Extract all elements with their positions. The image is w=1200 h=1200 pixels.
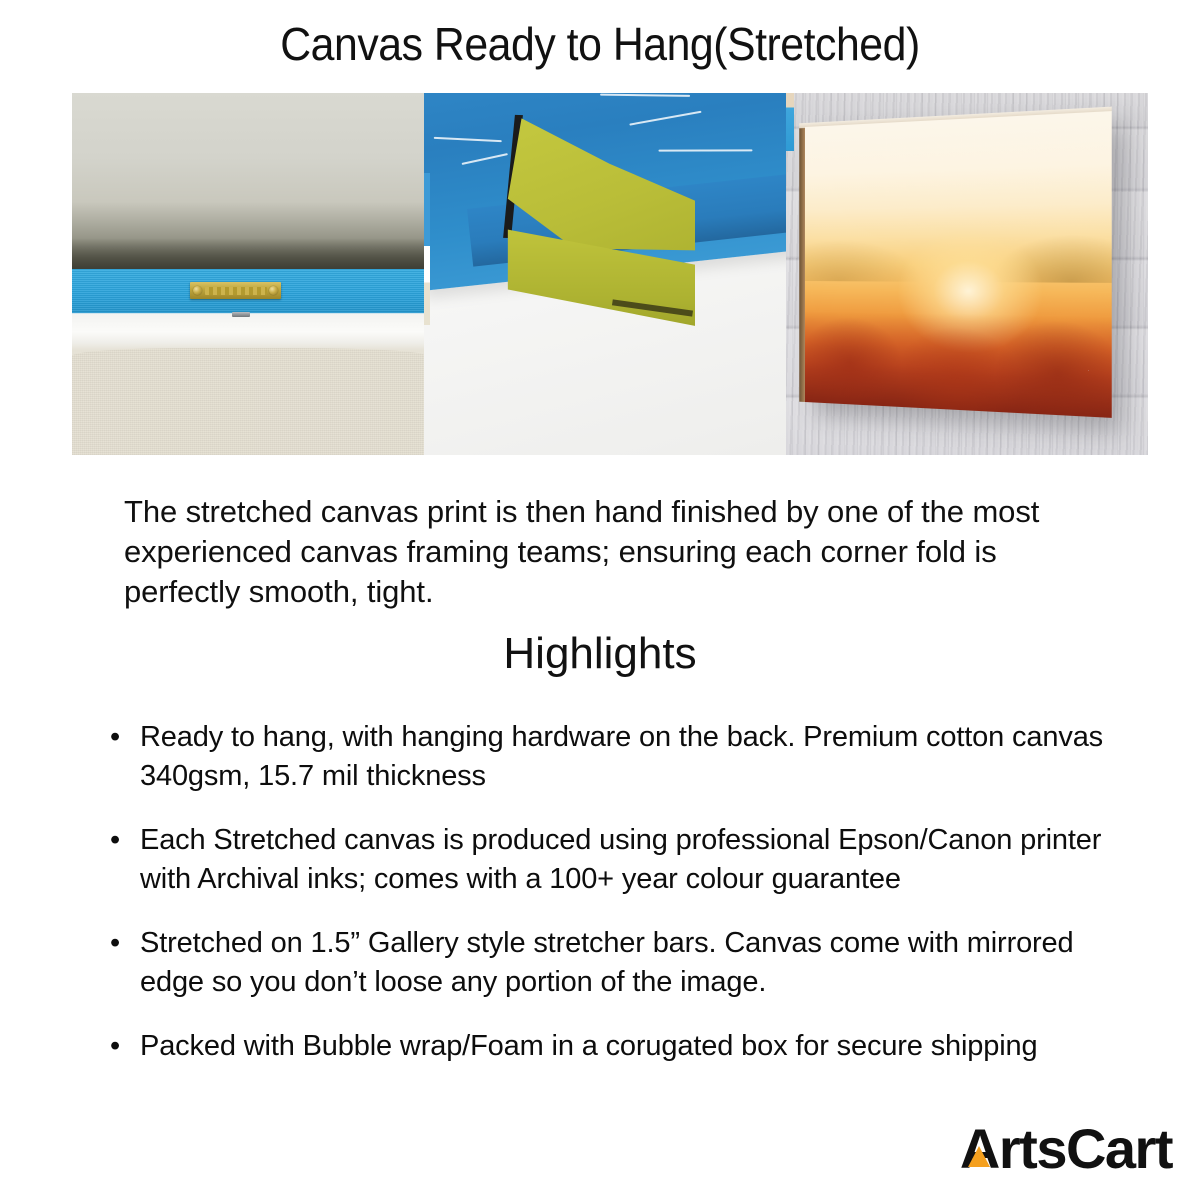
foreground-foliage	[805, 312, 1112, 419]
canvas-cotton-face	[72, 348, 424, 455]
hanging-hardware-bracket	[190, 282, 282, 299]
wall-nail	[232, 312, 250, 317]
list-item-label: Stretched on 1.5” Gallery style stretche…	[140, 924, 1110, 1002]
intro-paragraph: The stretched canvas print is then hand …	[124, 492, 1079, 612]
list-item: • Stretched on 1.5” Gallery style stretc…	[110, 924, 1110, 1002]
logo-letter-a: A	[960, 1118, 999, 1180]
bullet-dot-icon: •	[110, 718, 140, 757]
screw-right-icon	[269, 286, 278, 295]
adjacent-photo-sliver	[786, 93, 794, 151]
bullet-dot-icon: •	[110, 821, 140, 860]
orange-triangle-icon	[968, 1146, 990, 1167]
logo-wordmark-rest: rtsCart	[999, 1118, 1172, 1180]
product-photo-strip	[72, 93, 1148, 455]
photo-canvas-hanging-on-wall	[786, 93, 1148, 455]
sawtooth-teeth	[205, 287, 267, 295]
cloud-wisp	[630, 110, 702, 125]
list-item: • Ready to hang, with hanging hardware o…	[110, 718, 1110, 796]
highlights-list: • Ready to hang, with hanging hardware o…	[110, 718, 1110, 1091]
list-item-label: Packed with Bubble wrap/Foam in a coruga…	[140, 1027, 1110, 1066]
bullet-dot-icon: •	[110, 1027, 140, 1066]
bullet-dot-icon: •	[110, 924, 140, 963]
list-item-label: Each Stretched canvas is produced using …	[140, 821, 1110, 899]
page-title: Canvas Ready to Hang(Stretched)	[42, 17, 1158, 71]
screw-left-icon	[193, 286, 202, 295]
canvas-back-shadow	[72, 238, 424, 271]
list-item: • Packed with Bubble wrap/Foam in a coru…	[110, 1027, 1110, 1066]
photo-canvas-back-hanging-hardware	[72, 93, 424, 455]
hanging-canvas-artwork	[805, 111, 1112, 418]
photo-canvas-corner-fold	[424, 93, 786, 455]
highlights-heading: Highlights	[0, 628, 1200, 680]
list-item: • Each Stretched canvas is produced usin…	[110, 821, 1110, 899]
list-item-label: Ready to hang, with hanging hardware on …	[140, 718, 1110, 796]
adjacent-photo-sliver	[424, 173, 430, 325]
cloud-wisp	[434, 136, 502, 141]
artscart-logo: A rtsCart	[960, 1118, 1172, 1180]
cloud-wisp	[462, 152, 508, 164]
sunset-landscape-print	[805, 111, 1112, 418]
cloud-wisp	[601, 93, 691, 96]
cloud-wisp	[658, 149, 752, 151]
